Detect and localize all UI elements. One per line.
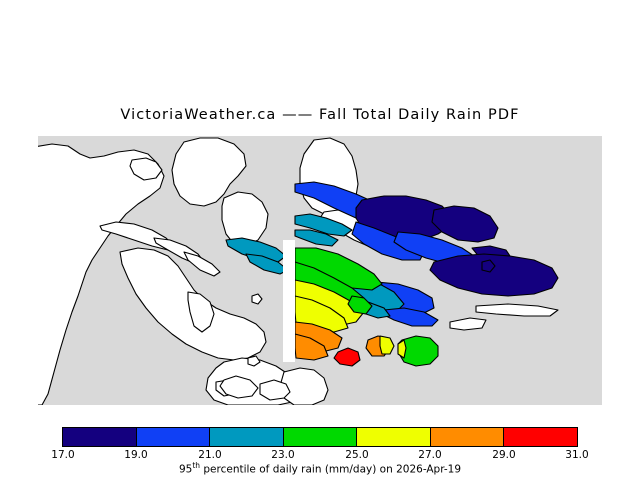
colorbar-segment-2[interactable] xyxy=(210,428,284,446)
colorbar-tick-0: 17.0 xyxy=(51,449,74,461)
colorbar-tick-7: 31.0 xyxy=(565,449,588,461)
colorbar-segment-5[interactable] xyxy=(431,428,505,446)
colorbar-caption-superscript: th xyxy=(192,461,200,470)
colorbar-segment-3[interactable] xyxy=(284,428,358,446)
colorbar-caption: 95th percentile of daily rain (mm/day) o… xyxy=(0,461,640,476)
colorbar[interactable] xyxy=(62,427,578,447)
map-panel[interactable] xyxy=(38,136,602,405)
colorbar-segment-4[interactable] xyxy=(357,428,431,446)
colorbar-caption-rest: percentile of daily rain (mm/day) on 202… xyxy=(200,464,461,476)
colorbar-tick-3: 23.0 xyxy=(271,449,294,461)
colorbar-segment-1[interactable] xyxy=(137,428,211,446)
region-small-green-islet-edge[interactable] xyxy=(398,340,406,358)
colorbar-tick-1: 19.0 xyxy=(124,449,147,461)
colorbar-tick-6: 29.0 xyxy=(492,449,515,461)
data-left-clip xyxy=(283,240,295,362)
colorbar-tick-5: 27.0 xyxy=(418,449,441,461)
colorbar-segment-6[interactable] xyxy=(504,428,577,446)
colorbar-tick-4: 25.0 xyxy=(345,449,368,461)
colorbar-caption-prefix: 95 xyxy=(179,464,192,476)
colorbar-tick-2: 21.0 xyxy=(198,449,221,461)
page-title: VictoriaWeather.ca —— Fall Total Daily R… xyxy=(0,107,640,123)
map-svg xyxy=(38,136,602,405)
weather-map-page: VictoriaWeather.ca —— Fall Total Daily R… xyxy=(0,0,640,480)
colorbar-segment-0[interactable] xyxy=(63,428,137,446)
